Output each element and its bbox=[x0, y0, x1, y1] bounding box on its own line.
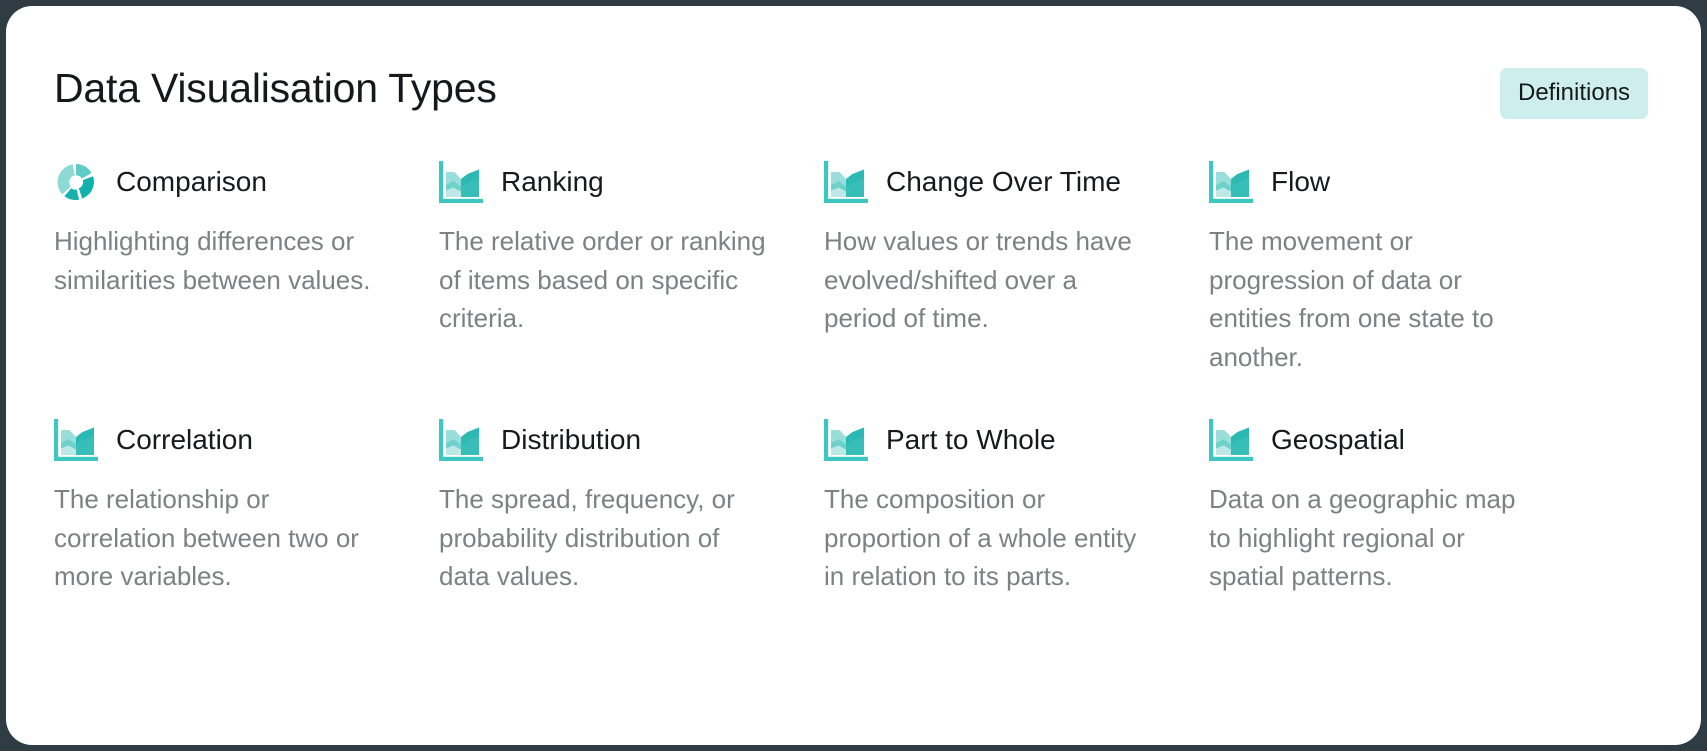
type-card-description: Highlighting differences or similarities… bbox=[54, 222, 384, 299]
type-card-distribution[interactable]: Distribution The spread, frequency, or p… bbox=[439, 412, 824, 596]
grid-row-2: Correlation The relationship or correlat… bbox=[54, 412, 1654, 596]
card-header: Data Visualisation Types Definitions bbox=[6, 6, 1701, 146]
area-chart-icon bbox=[54, 417, 100, 463]
type-card-header: Flow bbox=[1209, 154, 1566, 210]
type-card-description: The relationship or correlation between … bbox=[54, 480, 384, 596]
area-chart-icon bbox=[439, 417, 485, 463]
area-chart-icon bbox=[1209, 159, 1255, 205]
area-chart-icon bbox=[824, 159, 870, 205]
type-card-title: Geospatial bbox=[1271, 426, 1405, 454]
type-card-title: Comparison bbox=[116, 168, 267, 196]
area-chart-icon bbox=[824, 417, 870, 463]
type-card-comparison[interactable]: Comparison Highlighting differences or s… bbox=[54, 154, 439, 412]
page-title: Data Visualisation Types bbox=[54, 68, 497, 109]
donut-chart-icon bbox=[54, 159, 100, 205]
type-card-header: Comparison bbox=[54, 154, 411, 210]
data-visualisation-types-card: Data Visualisation Types Definitions Com… bbox=[6, 6, 1701, 745]
type-card-description: The movement or progression of data or e… bbox=[1209, 222, 1539, 377]
type-card-part-to-whole[interactable]: Part to Whole The composition or proport… bbox=[824, 412, 1209, 596]
type-card-flow[interactable]: Flow The movement or progression of data… bbox=[1209, 154, 1594, 412]
type-card-description: How values or trends have evolved/shifte… bbox=[824, 222, 1154, 338]
type-card-title: Change Over Time bbox=[886, 168, 1121, 196]
type-card-header: Distribution bbox=[439, 412, 796, 468]
type-card-header: Part to Whole bbox=[824, 412, 1181, 468]
type-card-title: Flow bbox=[1271, 168, 1330, 196]
type-card-geospatial[interactable]: Geospatial Data on a geographic map to h… bbox=[1209, 412, 1594, 596]
type-card-description: The relative order or ranking of items b… bbox=[439, 222, 769, 338]
type-card-header: Geospatial bbox=[1209, 412, 1566, 468]
grid-row-1: Comparison Highlighting differences or s… bbox=[54, 154, 1654, 412]
type-card-title: Ranking bbox=[501, 168, 604, 196]
type-card-ranking[interactable]: Ranking The relative order or ranking of… bbox=[439, 154, 824, 412]
type-card-title: Distribution bbox=[501, 426, 641, 454]
type-card-title: Correlation bbox=[116, 426, 253, 454]
type-card-change-over-time[interactable]: Change Over Time How values or trends ha… bbox=[824, 154, 1209, 412]
type-card-description: The spread, frequency, or probability di… bbox=[439, 480, 769, 596]
type-card-correlation[interactable]: Correlation The relationship or correlat… bbox=[54, 412, 439, 596]
definitions-badge[interactable]: Definitions bbox=[1500, 68, 1648, 119]
type-card-title: Part to Whole bbox=[886, 426, 1056, 454]
visualisation-types-grid: Comparison Highlighting differences or s… bbox=[54, 154, 1654, 596]
type-card-header: Change Over Time bbox=[824, 154, 1181, 210]
type-card-description: Data on a geographic map to highlight re… bbox=[1209, 480, 1539, 596]
type-card-header: Ranking bbox=[439, 154, 796, 210]
type-card-description: The composition or proportion of a whole… bbox=[824, 480, 1154, 596]
area-chart-icon bbox=[1209, 417, 1255, 463]
area-chart-icon bbox=[439, 159, 485, 205]
type-card-header: Correlation bbox=[54, 412, 411, 468]
